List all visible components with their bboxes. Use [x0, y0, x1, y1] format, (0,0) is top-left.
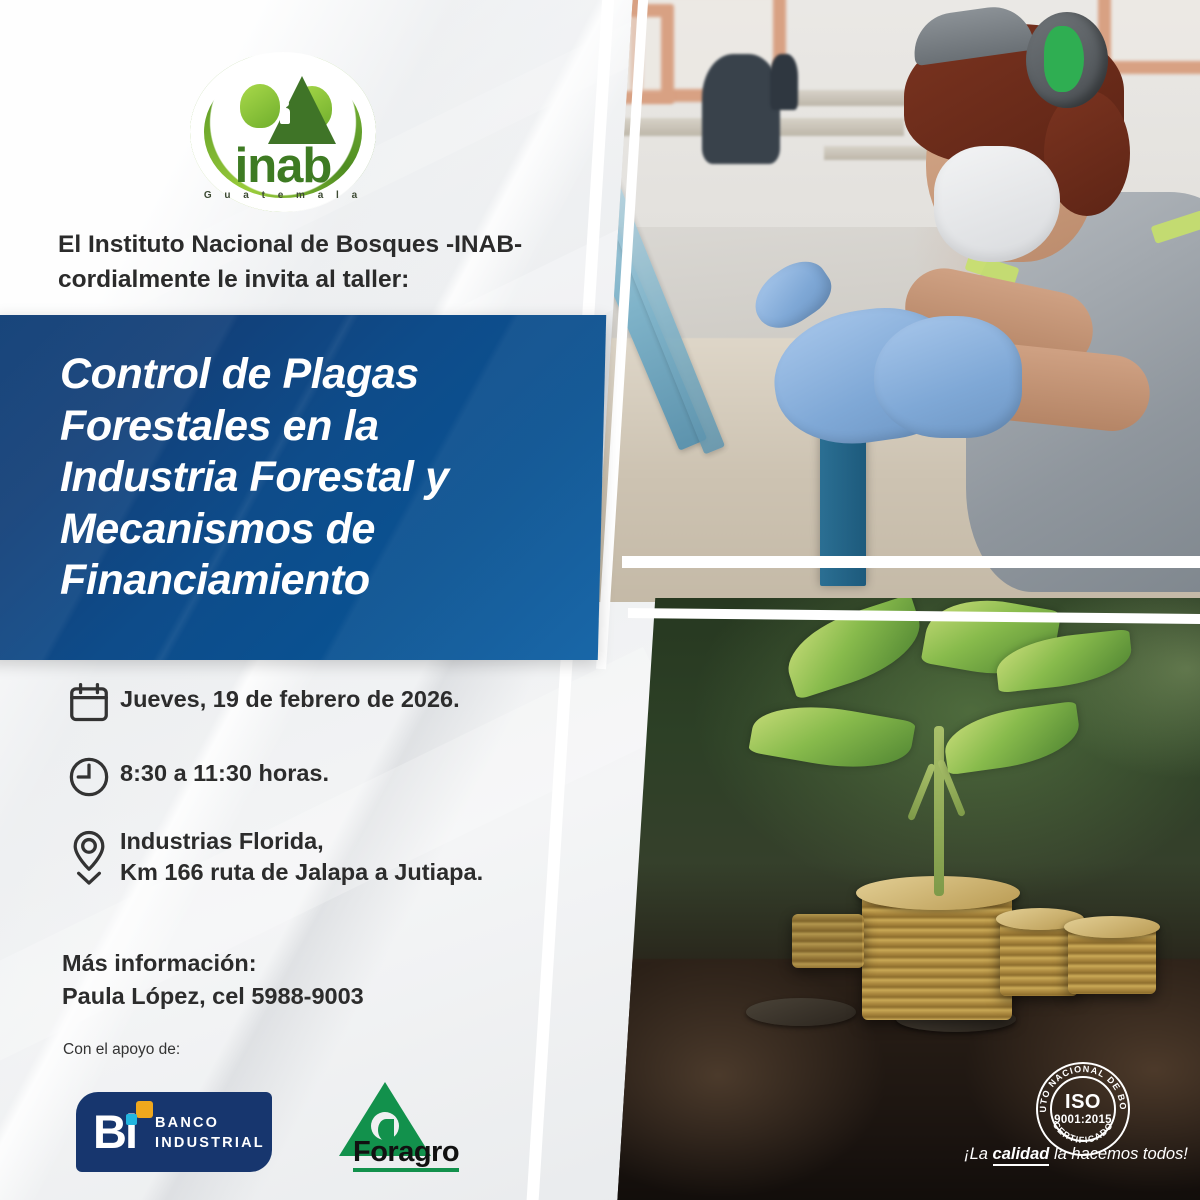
banco-industrial-logo: Bi BANCO INDUSTRIAL: [76, 1092, 272, 1172]
clock-icon: [58, 752, 120, 800]
banco-industrial-name: BANCO INDUSTRIAL: [155, 1114, 265, 1153]
intro-line-1: El Instituto Nacional de Bosques -INAB-: [58, 228, 578, 263]
foragro-logo: Foragro: [325, 1082, 465, 1178]
logo-person-body-icon: [280, 108, 290, 124]
banco-industrial-cyan-square-icon: [126, 1114, 137, 1125]
quality-tagline: ¡La calidad la hacemos todos!: [960, 1145, 1192, 1164]
detail-time-text: 8:30 a 11:30 horas.: [120, 752, 329, 789]
foragro-wordmark: Foragro: [353, 1136, 459, 1169]
intro-text: El Instituto Nacional de Bosques -INAB- …: [58, 228, 578, 298]
sponsors-label: Con el apoyo de:: [63, 1041, 180, 1059]
logo-country: G u a t e m a l a: [168, 190, 398, 201]
page-title: Control de Plagas Forestales en la Indus…: [60, 349, 560, 607]
invitation-poster: inab G u a t e m a l a El Instituto Naci…: [0, 0, 1200, 1200]
title-banner: Control de Plagas Forestales en la Indus…: [0, 315, 606, 660]
contact-block: Más información: Paula López, cel 5988-9…: [62, 947, 582, 1014]
logo-wordmark: inab: [168, 142, 398, 191]
logo-pine-icon: [268, 76, 336, 144]
event-details: Jueves, 19 de febrero de 2026. 8:30 a 11…: [58, 678, 598, 915]
tagline-prefix: ¡La: [964, 1145, 992, 1163]
detail-row-time: 8:30 a 11:30 horas.: [58, 752, 598, 800]
contact-person: Paula López, cel 5988-9003: [62, 980, 582, 1013]
contact-heading: Más información:: [62, 947, 582, 980]
foragro-underline: [353, 1168, 459, 1172]
logo-person-head-icon: [282, 100, 289, 107]
banco-industrial-name-line-2: INDUSTRIAL: [155, 1134, 265, 1154]
iso-word: ISO: [1036, 1092, 1130, 1112]
detail-row-location: Industrias Florida, Km 166 ruta de Jalap…: [58, 826, 598, 889]
photo-divider-line: [622, 556, 1200, 568]
detail-date-text: Jueves, 19 de febrero de 2026.: [120, 678, 460, 715]
location-pin-icon: [58, 826, 120, 886]
calendar-icon: [58, 678, 120, 726]
workshop-worker-photo: [595, 0, 1200, 602]
tagline-bold: calidad: [993, 1145, 1050, 1166]
detail-location-text: Industrias Florida, Km 166 ruta de Jalap…: [120, 826, 483, 889]
intro-line-2: cordialmente le invita al taller:: [58, 263, 578, 298]
tagline-suffix: la hacemos todos!: [1049, 1145, 1188, 1163]
iso-standard: 9001:2015: [1036, 1114, 1130, 1126]
detail-row-date: Jueves, 19 de febrero de 2026.: [58, 678, 598, 726]
banco-industrial-name-line-1: BANCO: [155, 1114, 265, 1134]
inab-logo: inab G u a t e m a l a: [168, 50, 398, 210]
banco-industrial-orange-square-icon: [136, 1101, 153, 1118]
location-line-1: Industrias Florida,: [120, 826, 483, 857]
location-line-2: Km 166 ruta de Jalapa a Jutiapa.: [120, 857, 483, 888]
iso-badge: INSTITUTO NACIONAL DE BOSQUES CERTIFICAD…: [1036, 1062, 1130, 1156]
